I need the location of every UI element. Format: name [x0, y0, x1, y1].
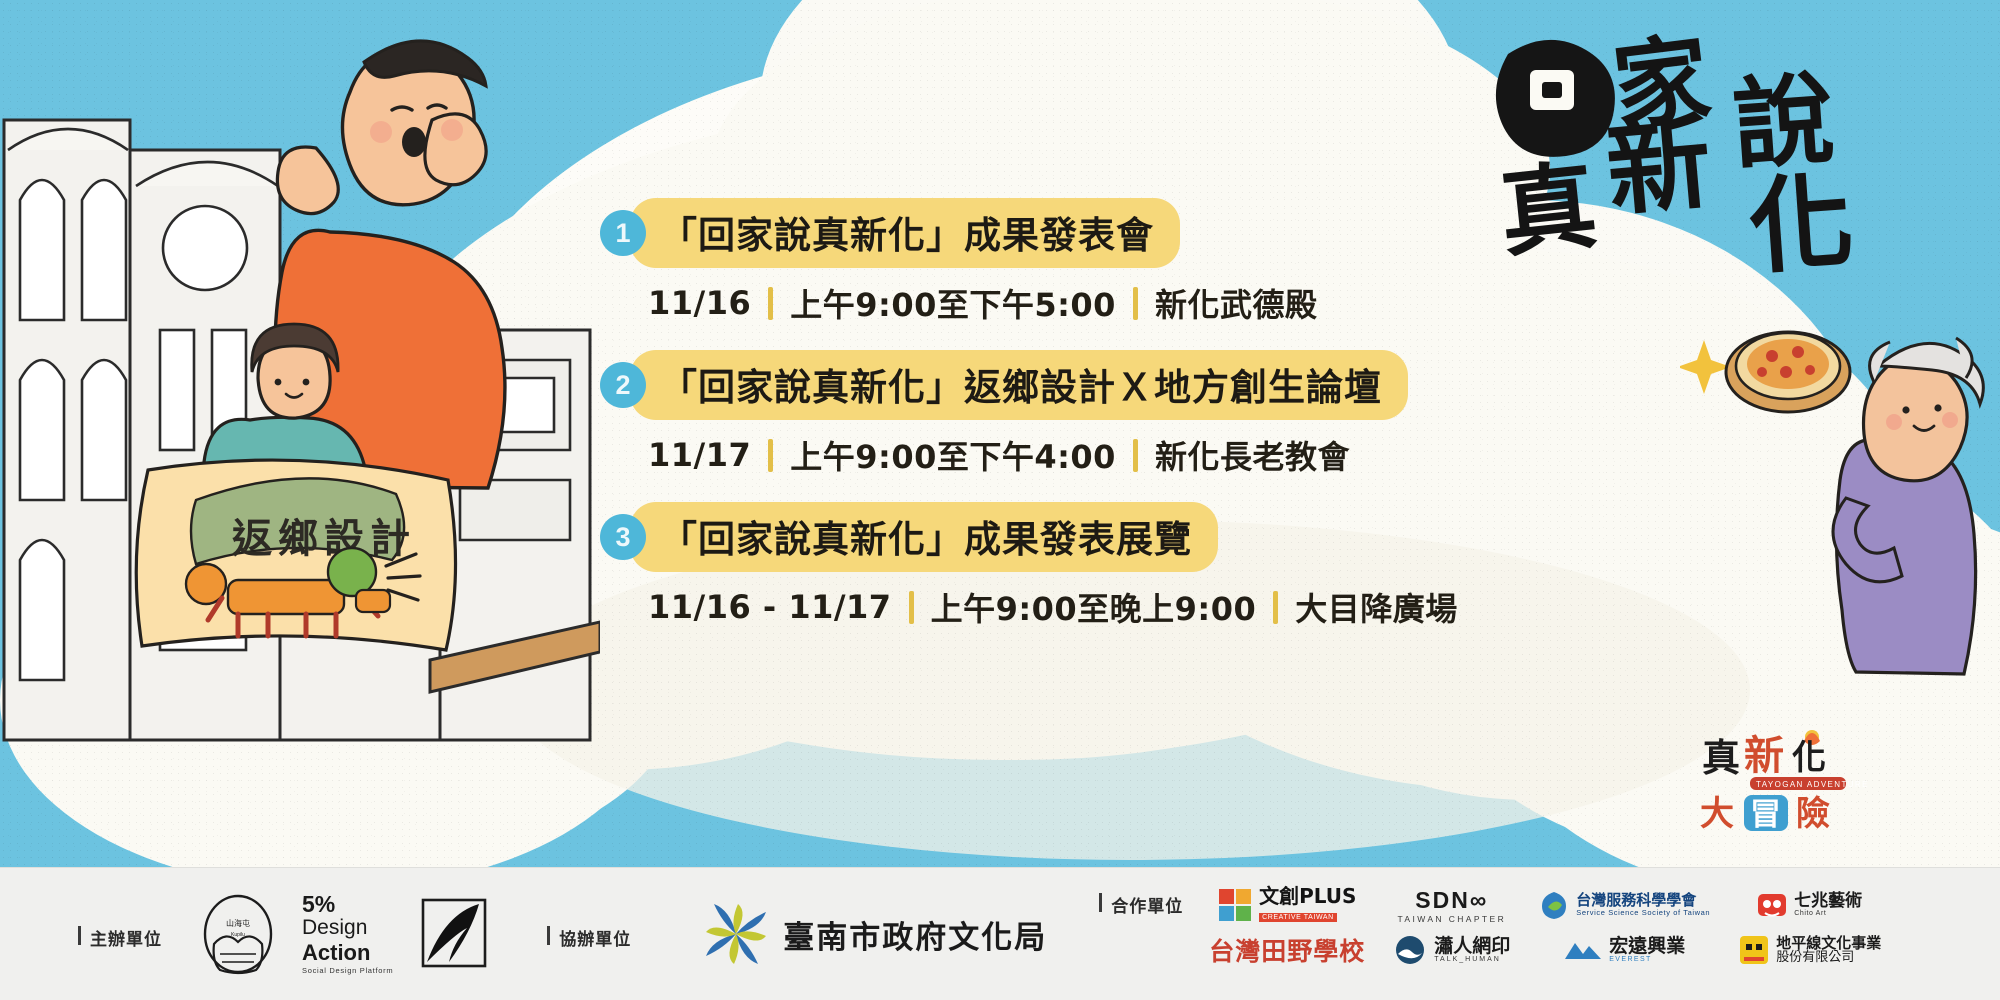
logo-creative-taiwan-plus: 文創PLUS CREATIVE TAIWAN — [1209, 886, 1365, 924]
brand-logo: 真 新 家 說 化 — [1490, 18, 1960, 283]
logo-sdn-taiwan-chapter: SDN∞ TAIWAN CHAPTER — [1393, 886, 1510, 924]
event-title: 「回家說真新化」成果發表會 — [660, 214, 1154, 257]
logo-wenchuang-text: 文創PLUS — [1259, 886, 1356, 906]
logo-sss-text: 台灣服務科學學會 — [1576, 893, 1710, 909]
event-title-band: 「回家說真新化」成果發表會 — [630, 198, 1180, 268]
logo-char-zhen: 真 — [1495, 148, 1602, 270]
logo-5p-tagline: Social Design Platform — [302, 966, 393, 975]
logo-5p-line1: 5% — [302, 893, 335, 916]
mascot-tagline: TAYOGAN ADVENTURE — [1756, 780, 1869, 789]
event-number-badge: 3 — [600, 514, 646, 560]
logo-talkhuman-text: 瀟人網印 — [1434, 937, 1510, 956]
logo-field-school-text: 台灣田野學校 — [1209, 932, 1365, 968]
svg-text:山海屯: 山海屯 — [226, 918, 250, 928]
event-title: 「回家說真新化」返鄉設計Ｘ地方創生論壇 — [660, 366, 1382, 409]
event-venue: 新化長老教會 — [1155, 432, 1350, 478]
svg-text:返鄉設計: 返鄉設計 — [232, 515, 416, 562]
logo-5-percent-design-action: 5% Design Action Social Design Platform — [302, 893, 393, 974]
event-date: 11/17 — [648, 436, 751, 474]
logo-talk-human-printing: 瀟人網印 TALK_HUMAN — [1393, 932, 1510, 968]
event-venue: 新化武德殿 — [1155, 280, 1318, 326]
meta-separator — [1133, 287, 1138, 320]
event-meta: 11/16 - 11/17 上午9:00至晚上9:00 大目降廣場 — [648, 584, 1420, 630]
event-item-1: 1 「回家說真新化」成果發表會 11/16 上午9:00至下午5:00 新化武德… — [600, 198, 1420, 326]
grandma-character — [1833, 338, 1983, 674]
logo-tainan-text: 臺南市政府文化局 — [783, 912, 1047, 957]
event-venue: 大目降廣場 — [1295, 584, 1458, 630]
mascot-line1-char2: 新 — [1744, 732, 1784, 779]
mascot-line2-char1: 大 — [1700, 794, 1734, 834]
event-title-band: 「回家說真新化」成果發表展覽 — [630, 502, 1218, 572]
event-item-2: 2 「回家說真新化」返鄉設計Ｘ地方創生論壇 11/17 上午9:00至下午4:0… — [600, 350, 1420, 478]
footer-group-partners: 合作單位 文創PLUS CREATIVE TAIWAN — [1047, 868, 1881, 1000]
mascot-line1-char3: 化 — [1792, 738, 1826, 778]
logo-5p-line2: Design — [302, 916, 367, 940]
event-meta: 11/16 上午9:00至下午5:00 新化武德殿 — [648, 280, 1420, 326]
logo-horizon-text: 地平線文化事業 — [1776, 935, 1881, 952]
event-title: 「回家說真新化」成果發表展覽 — [660, 518, 1192, 561]
event-meta: 11/17 上午9:00至下午4:00 新化長老教會 — [648, 432, 1420, 478]
logo-horizon-culture: 地平線文化事業 股份有限公司 — [1738, 932, 1881, 968]
logo-sss-sub: Service Science Society of Taiwan — [1576, 908, 1710, 917]
meta-separator — [768, 439, 773, 472]
sponsor-footer: 主辦單位 山海屯 Kupilu 5% Design Action Social … — [0, 867, 2000, 1000]
footer-label-partner: 合作單位 — [1099, 886, 1183, 917]
svg-text:冒: 冒 — [1750, 797, 1781, 833]
meta-separator — [909, 591, 914, 624]
logo-chito-text: 七兆藝術 — [1794, 893, 1862, 910]
meta-separator — [1273, 591, 1278, 624]
left-illustration: 返鄉設計 — [0, 0, 600, 880]
event-time: 上午9:00至下午5:00 — [790, 280, 1116, 326]
event-item-3: 3 「回家說真新化」成果發表展覽 11/16 - 11/17 上午9:00至晚上… — [600, 502, 1420, 630]
mascot-line1-char1: 真 — [1702, 735, 1740, 780]
event-number-badge: 1 — [600, 210, 646, 256]
logo-chito-art: 七兆藝術 Chito Art — [1738, 886, 1881, 924]
poster-root: 返鄉設計 — [0, 0, 2000, 1000]
logo-everest-industrial: 宏遠興業 EVEREST — [1538, 932, 1710, 968]
event-list: 1 「回家說真新化」成果發表會 11/16 上午9:00至下午5:00 新化武德… — [600, 198, 1420, 654]
logo-wenchuang-sub: CREATIVE TAIWAN — [1259, 913, 1337, 922]
logo-chito-sub: Chito Art — [1794, 910, 1862, 917]
logo-seal-icon — [1496, 40, 1615, 157]
mascot-line2-char2-box: 冒 — [1744, 795, 1788, 833]
partner-logo-grid: 文創PLUS CREATIVE TAIWAN SDN∞ TAIWAN CHAPT… — [1209, 886, 1881, 968]
meta-separator — [768, 287, 773, 320]
logo-char-hua: 化 — [1745, 159, 1857, 283]
logo-sdn-text: SDN∞ — [1415, 887, 1488, 914]
right-illustration — [1680, 300, 2000, 680]
logo-tainan-cultural-bureau: 臺南市政府文化局 — [701, 899, 1047, 969]
event-time: 上午9:00至晚上9:00 — [931, 584, 1257, 630]
logo-char-jia: 家 — [1607, 21, 1716, 145]
mascot-line2-char3: 險 — [1796, 794, 1830, 834]
svg-text:Kupilu: Kupilu — [231, 932, 245, 938]
footer-label-coorganizer: 協辦單位 — [547, 919, 631, 950]
pizza-illustration — [1726, 332, 1850, 412]
meta-separator — [1133, 439, 1138, 472]
mascot-logo: 真 新 化 TAYOGAN ADVENTURE 大 冒 險 — [1700, 725, 1900, 835]
logo-service-science-society: 台灣服務科學學會 Service Science Society of Taiw… — [1538, 886, 1710, 924]
logo-5p-line3: Action — [302, 941, 370, 964]
logo-sdn-sub: TAIWAN CHAPTER — [1397, 914, 1506, 924]
event-date: 11/16 - 11/17 — [648, 588, 892, 626]
logo-everest-text: 宏遠興業 — [1609, 937, 1685, 956]
logo-talkhuman-sub: TALK_HUMAN — [1434, 956, 1510, 963]
event-number-badge: 2 — [600, 362, 646, 408]
event-time: 上午9:00至下午4:00 — [790, 432, 1116, 478]
logo-arrow-square — [417, 896, 489, 972]
logo-shanhaitun-seal: 山海屯 Kupilu — [200, 892, 276, 976]
footer-label-organizer: 主辦單位 — [78, 919, 162, 950]
logo-taiwan-field-school: 台灣田野學校 — [1209, 932, 1365, 968]
logo-everest-sub: EVEREST — [1609, 956, 1685, 963]
footer-group-coorganizers: 協辦單位 — [489, 868, 1047, 1000]
logo-horizon-sub: 股份有限公司 — [1776, 951, 1881, 965]
event-date: 11/16 — [648, 284, 751, 322]
footer-group-organizers: 主辦單位 山海屯 Kupilu 5% Design Action Social … — [0, 868, 489, 1000]
banner-scroll: 返鄉設計 — [136, 460, 455, 650]
sparkle-icon — [1680, 340, 1731, 394]
event-title-band: 「回家說真新化」返鄉設計Ｘ地方創生論壇 — [630, 350, 1408, 420]
